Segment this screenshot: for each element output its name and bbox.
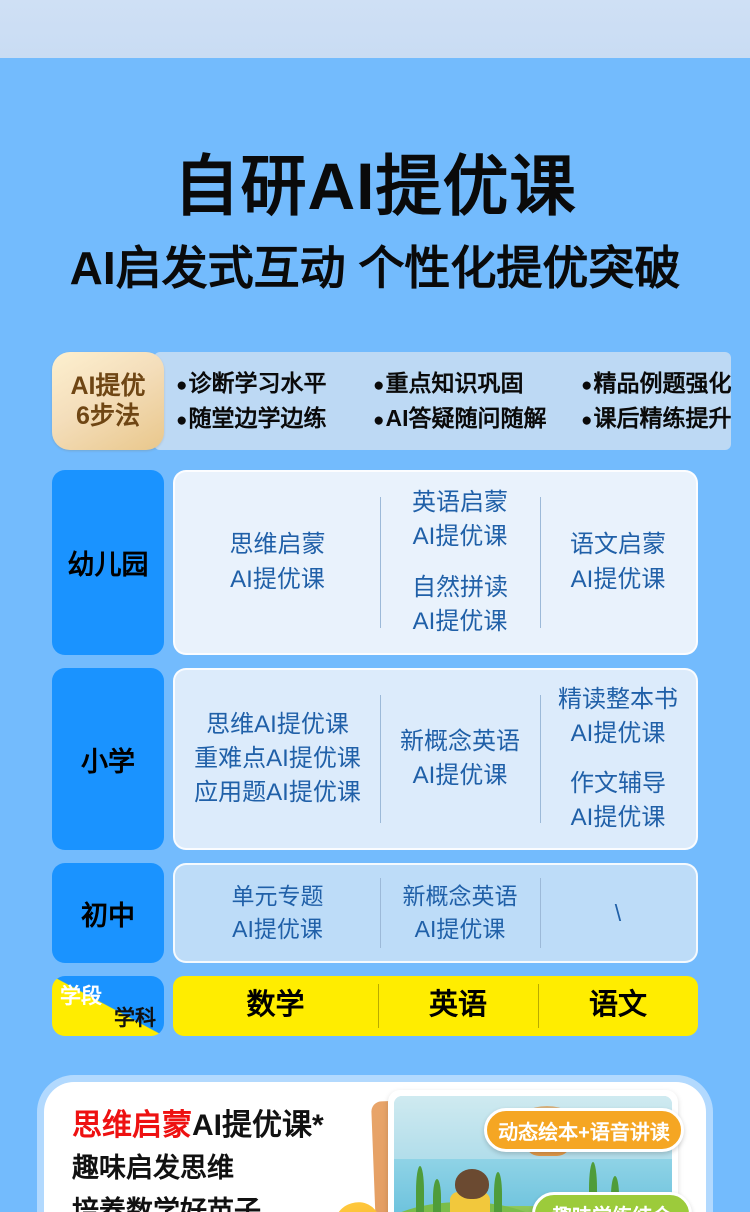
six-step-item: ●AI答疑随问随解 bbox=[373, 401, 581, 436]
promo-card[interactable]: 思维启蒙AI提优课* 趣味启发思维 培养数学好苗子 bbox=[44, 1082, 706, 1212]
matrix-corner-cell: 学段 学科 bbox=[52, 976, 164, 1036]
six-step-badge-line1: AI提优 bbox=[70, 371, 145, 402]
six-step-badge-line2: 6步法 bbox=[76, 401, 140, 432]
course-line: AI提优课 bbox=[571, 717, 666, 751]
course-line: \ bbox=[615, 897, 621, 930]
six-step-row-1: ●诊断学习水平 ●重点知识巩固 ●精品例题强化 bbox=[176, 366, 731, 401]
promo-title-rest: AI提优课* bbox=[192, 1109, 324, 1142]
promo-title: 思维启蒙AI提优课* bbox=[72, 1108, 372, 1144]
course-line: 英语启蒙 bbox=[412, 486, 508, 520]
six-step-item-label: 重点知识巩固 bbox=[385, 370, 523, 396]
six-step-item-label: AI答疑随问随解 bbox=[385, 405, 546, 431]
grass-blade-icon bbox=[494, 1172, 502, 1212]
course-line: 重难点AI提优课 bbox=[194, 742, 361, 776]
matrix-row-panel: 思维AI提优课 重难点AI提优课 应用题AI提优课 新概念英语 AI提优课 精读… bbox=[173, 668, 698, 850]
six-step-item-label: 诊断学习水平 bbox=[188, 370, 326, 396]
course-line: AI提优课 bbox=[413, 605, 508, 639]
six-step-item: ●重点知识巩固 bbox=[373, 366, 581, 401]
corner-label-grade: 学段 bbox=[60, 980, 102, 1010]
course-line: AI提优课 bbox=[230, 563, 325, 597]
six-step-item-label: 精品例题强化 bbox=[593, 370, 731, 396]
animal-mole-icon bbox=[455, 1169, 489, 1199]
matrix-cell-primary-math[interactable]: 思维AI提优课 重难点AI提优课 应用题AI提优课 bbox=[175, 670, 380, 848]
grade-label-primary: 小学 bbox=[52, 668, 164, 850]
course-line: AI提优课 bbox=[415, 913, 506, 946]
six-step-badge: AI提优 6步法 bbox=[52, 352, 164, 450]
promo-title-highlight: 思维启蒙 bbox=[72, 1109, 192, 1142]
course-line: 新概念英语 bbox=[400, 725, 520, 759]
six-step-item: ●课后精练提升 bbox=[581, 401, 731, 436]
matrix-cell-primary-chinese[interactable]: 精读整本书 AI提优课 作文辅导 AI提优课 bbox=[540, 670, 696, 848]
course-line: 自然拼读 bbox=[412, 571, 508, 605]
course-line: 语文启蒙 bbox=[570, 528, 666, 562]
course-line: AI提优课 bbox=[571, 801, 666, 835]
matrix-row-panel: 单元专题 AI提优课 新概念英语 AI提优课 \ bbox=[173, 863, 698, 963]
bullet-icon: ● bbox=[176, 410, 187, 431]
subject-header-math[interactable]: 数学 bbox=[173, 976, 378, 1036]
course-line: 新概念英语 bbox=[403, 880, 518, 913]
matrix-cell-kindergarten-math[interactable]: 思维启蒙 AI提优课 bbox=[175, 472, 380, 653]
course-line: 思维启蒙 bbox=[230, 528, 326, 562]
matrix-cell-kindergarten-chinese[interactable]: 语文启蒙 AI提优课 bbox=[540, 472, 696, 653]
six-step-method-strip: AI提优 6步法 ●诊断学习水平 ●重点知识巩固 ●精品例题强化 ●随堂边学边练… bbox=[52, 352, 698, 450]
course-line: 单元专题 bbox=[232, 880, 324, 913]
matrix-cell-junior-english[interactable]: 新概念英语 AI提优课 bbox=[380, 865, 540, 961]
promo-line-2: 培养数学好苗子 bbox=[72, 1192, 372, 1212]
course-line: 作文辅导 bbox=[570, 767, 666, 801]
course-line: AI提优课 bbox=[413, 520, 508, 554]
six-step-item: ●随堂边学边练 bbox=[176, 401, 373, 436]
feature-badge-learn-practice: 趣味学练结合 bbox=[532, 1192, 692, 1212]
matrix-row-junior-high: 初中 单元专题 AI提优课 新概念英语 AI提优课 \ bbox=[52, 863, 698, 963]
course-line: AI提优课 bbox=[571, 563, 666, 597]
promo-line-1: 趣味启发思维 bbox=[72, 1149, 372, 1187]
matrix-row-primary: 小学 思维AI提优课 重难点AI提优课 应用题AI提优课 新概念英语 AI提优课… bbox=[52, 668, 698, 850]
matrix-cell-junior-chinese[interactable]: \ bbox=[540, 865, 696, 961]
course-line: 应用题AI提优课 bbox=[194, 776, 361, 810]
page-subtitle: AI启发式互动 个性化提优突破 bbox=[0, 243, 750, 294]
matrix-row-kindergarten: 幼儿园 思维启蒙 AI提优课 英语启蒙 AI提优课 自然拼读 AI提优课 语文启… bbox=[52, 470, 698, 655]
top-band bbox=[0, 0, 750, 58]
matrix-cell-primary-english[interactable]: 新概念英语 AI提优课 bbox=[380, 670, 540, 848]
matrix-cell-kindergarten-english[interactable]: 英语启蒙 AI提优课 自然拼读 AI提优课 bbox=[380, 472, 540, 653]
course-line: 精读整本书 bbox=[558, 683, 678, 717]
page-title: 自研AI提优课 bbox=[0, 152, 750, 221]
subject-header-chinese[interactable]: 语文 bbox=[538, 976, 698, 1036]
bullet-icon: ● bbox=[373, 410, 384, 431]
bullet-icon: ● bbox=[581, 375, 592, 396]
grade-label-kindergarten: 幼儿园 bbox=[52, 470, 164, 655]
six-step-list: ●诊断学习水平 ●重点知识巩固 ●精品例题强化 ●随堂边学边练 ●AI答疑随问随… bbox=[154, 352, 731, 450]
six-step-item-label: 课后精练提升 bbox=[593, 405, 731, 431]
promo-illustration: 动态绘本+语音讲读 趣味学练结合 bbox=[344, 1082, 706, 1212]
feature-badge-audio-picturebook: 动态绘本+语音讲读 bbox=[484, 1108, 684, 1152]
course-line: AI提优课 bbox=[232, 913, 323, 946]
six-step-row-2: ●随堂边学边练 ●AI答疑随问随解 ●课后精练提升 bbox=[176, 401, 731, 436]
corner-label-subject: 学科 bbox=[114, 1002, 156, 1032]
six-step-item: ●诊断学习水平 bbox=[176, 366, 373, 401]
promo-text-block: 思维启蒙AI提优课* 趣味启发思维 培养数学好苗子 bbox=[72, 1108, 372, 1212]
course-line: AI提优课 bbox=[413, 759, 508, 793]
subject-bar: 数学 英语 语文 bbox=[173, 976, 698, 1036]
six-step-item: ●精品例题强化 bbox=[581, 366, 731, 401]
six-step-item-label: 随堂边学边练 bbox=[188, 405, 326, 431]
bullet-icon: ● bbox=[176, 375, 187, 396]
subject-header-english[interactable]: 英语 bbox=[378, 976, 538, 1036]
course-line: 思维AI提优课 bbox=[206, 708, 349, 742]
bullet-icon: ● bbox=[373, 375, 384, 396]
grass-blade-icon bbox=[433, 1179, 441, 1212]
matrix-row-panel: 思维启蒙 AI提优课 英语启蒙 AI提优课 自然拼读 AI提优课 语文启蒙 AI… bbox=[173, 470, 698, 655]
grade-label-junior-high: 初中 bbox=[52, 863, 164, 963]
bullet-icon: ● bbox=[581, 410, 592, 431]
matrix-cell-junior-math[interactable]: 单元专题 AI提优课 bbox=[175, 865, 380, 961]
matrix-subject-header: 学段 学科 数学 英语 语文 bbox=[52, 976, 698, 1036]
